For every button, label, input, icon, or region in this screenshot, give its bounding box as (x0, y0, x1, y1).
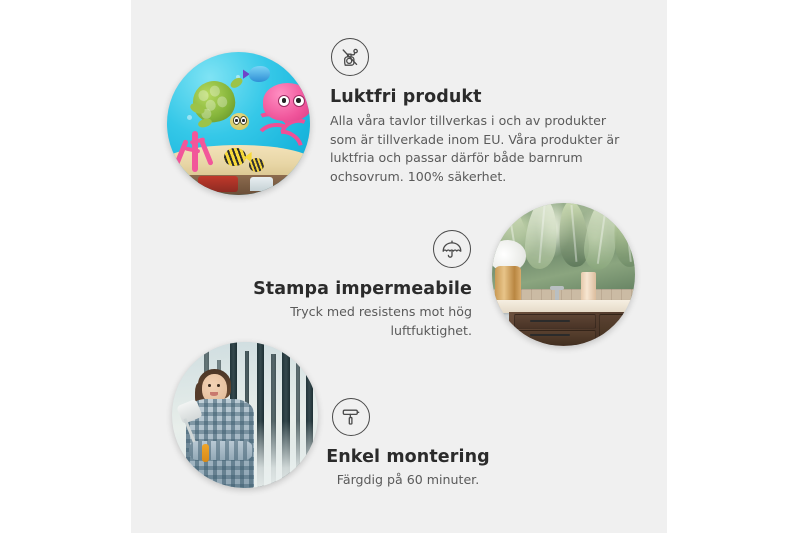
wooden-vanity (509, 312, 635, 346)
product-photo-bathroom (492, 203, 635, 346)
sea-foreground-strip (167, 175, 310, 195)
umbrella-icon (433, 230, 471, 268)
fish-small-icon (249, 158, 265, 172)
feature-description: Tryck med resistens mot hög luftfuktighe… (206, 303, 472, 340)
feature-description: Färgdig på 60 minuter. (300, 471, 516, 490)
feature-odour-free: Luktfri produkt Alla våra tavlor tillver… (330, 38, 632, 187)
no-scent-spray-bottle-icon (331, 38, 369, 76)
feature-easy-mounting: Enkel montering Färgdig på 60 minuter. (300, 398, 516, 490)
woman-with-roller (181, 371, 263, 488)
feature-waterproof: Stampa impermeabile Tryck med resistens … (206, 230, 472, 340)
product-photo-forest (172, 342, 318, 488)
feature-title: Luktfri produkt (330, 87, 632, 108)
infographic-canvas: Luktfri produkt Alla våra tavlor tillver… (0, 0, 800, 533)
fish-blue-icon (249, 66, 270, 82)
feature-description: Alla våra tavlor tillverkas i och av pro… (330, 112, 632, 187)
paint-roller-prop-icon (179, 402, 200, 437)
feature-title: Enkel montering (300, 447, 516, 468)
paint-roller-icon (332, 398, 370, 436)
coral-icon (174, 129, 217, 172)
fish-striped-icon (224, 148, 245, 167)
octopus-icon (250, 83, 310, 155)
feature-title: Stampa impermeabile (206, 279, 472, 300)
turtle-icon (190, 81, 247, 132)
product-photo-sea (167, 52, 310, 195)
